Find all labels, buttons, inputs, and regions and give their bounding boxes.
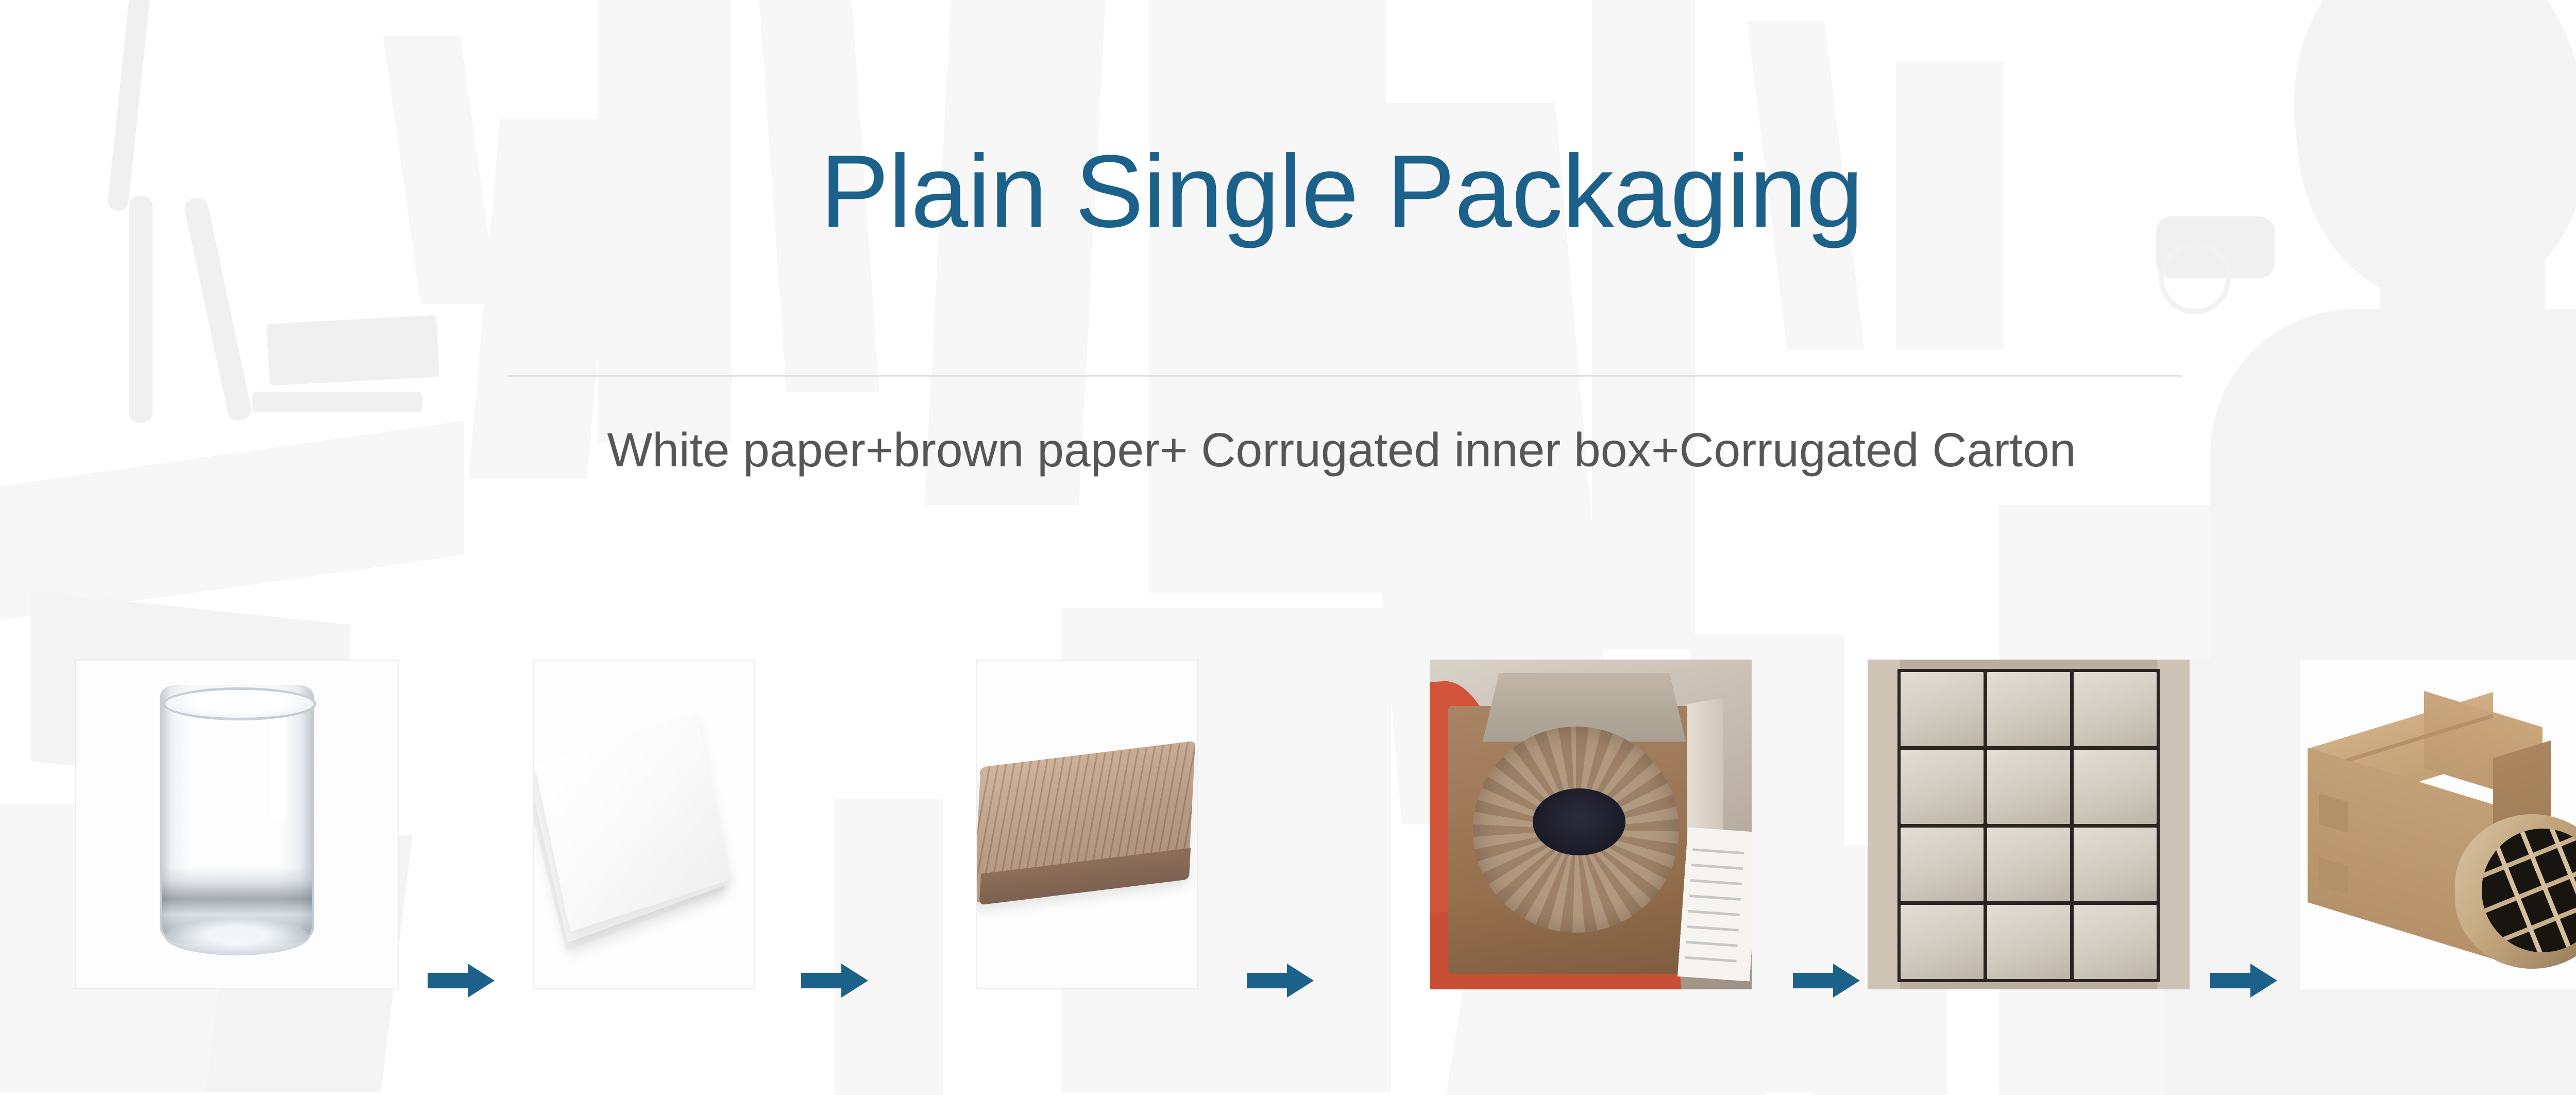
page-title: Plain Single Packaging: [0, 140, 2576, 243]
step-2-white-paper: White paper: [533, 660, 755, 989]
title-divider: [507, 375, 2182, 377]
brown-paper-icon: [976, 755, 1198, 920]
sealed-carton-icon: [2300, 660, 2576, 989]
step-3-brown-kraft-paper: Brown paper: [976, 660, 1198, 989]
step-4-corrugated-inner-box: Corrugated inner box: [1430, 660, 1752, 989]
glass-tumbler-icon: [160, 685, 314, 964]
step-6-sealed-carton: Corrugated carton: [2300, 660, 2576, 989]
corrugated-inner-box-icon: [1430, 660, 1752, 989]
slide-canvas: Plain Single Packaging White paper+brown…: [0, 0, 2576, 1095]
arrow-right-icon: [428, 964, 495, 998]
arrow-right-icon: [1793, 964, 1860, 998]
page-subtitle: White paper+brown paper+ Corrugated inne…: [0, 424, 2576, 476]
packaging-flow-strip: Glass tumbler product White paper Bro: [0, 660, 2576, 989]
arrow-right-icon: [1247, 964, 1314, 998]
step-1-glass-tumbler: Glass tumbler product: [75, 660, 399, 989]
corrugated-flute-detail-icon: [2455, 814, 2576, 969]
arrow-right-icon: [2210, 964, 2277, 998]
white-paper-icon: [536, 701, 752, 948]
arrow-right-icon: [801, 964, 868, 998]
carton-with-inner-boxes-icon: [1868, 660, 2190, 989]
step-5-boxes-in-carton: Inner boxes loaded in carton: [1868, 660, 2190, 989]
